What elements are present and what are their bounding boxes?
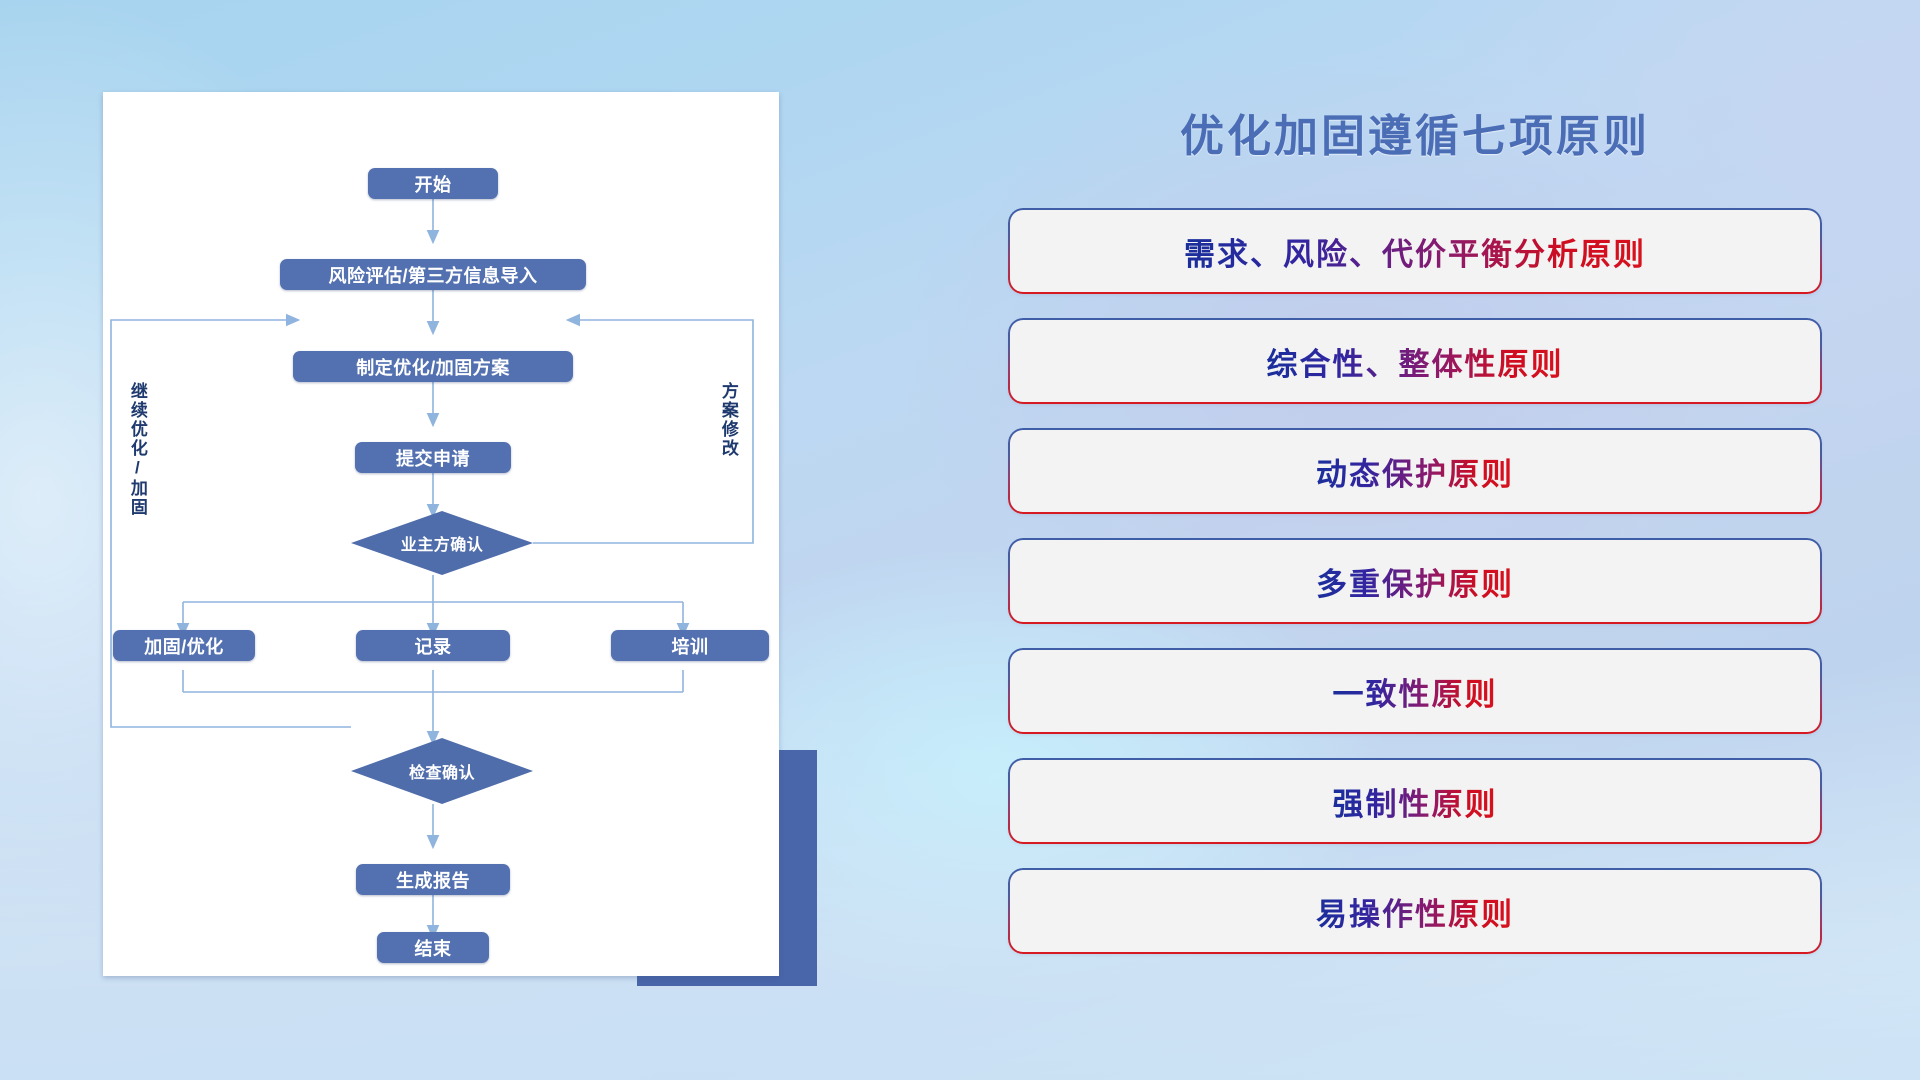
- flow-node-end[interactable]: 结束: [377, 932, 489, 963]
- flow-node-end-label: 结束: [415, 935, 452, 961]
- flow-node-report-label: 生成报告: [396, 867, 470, 893]
- flow-node-training-label: 培训: [672, 633, 709, 659]
- flow-node-risk-assessment[interactable]: 风险评估/第三方信息导入: [280, 259, 586, 290]
- flow-node-check-confirm-label: 检查确认: [409, 759, 475, 783]
- principle-card-1[interactable]: 需求、风险、代价平衡分析原则: [1010, 210, 1820, 292]
- principle-label-4: 多重保护原则: [1316, 559, 1514, 604]
- flow-node-training[interactable]: 培训: [611, 630, 769, 661]
- principles-list: 需求、风险、代价平衡分析原则 综合性、整体性原则 动态保护原则 多重保护原则 一…: [1010, 210, 1820, 952]
- flow-node-submit-label: 提交申请: [396, 445, 470, 471]
- principle-label-5: 一致性原则: [1333, 669, 1498, 714]
- principle-card-4[interactable]: 多重保护原则: [1010, 540, 1820, 622]
- principles-panel: 优化加固遵循七项原则 需求、风险、代价平衡分析原则 综合性、整体性原则 动态保护…: [1010, 96, 1820, 996]
- principle-card-7[interactable]: 易操作性原则: [1010, 870, 1820, 952]
- principle-label-2: 综合性、整体性原则: [1267, 339, 1564, 384]
- principle-label-7: 易操作性原则: [1316, 889, 1514, 934]
- flow-node-owner-confirm-label: 业主方确认: [401, 531, 484, 555]
- flow-node-start-label: 开始: [415, 171, 452, 197]
- flow-node-reinforce[interactable]: 加固/优化: [113, 630, 255, 661]
- principle-card-6[interactable]: 强制性原则: [1010, 760, 1820, 842]
- flow-node-start[interactable]: 开始: [368, 168, 498, 199]
- flow-edge-label-plan-revision: 方案修改: [719, 382, 737, 458]
- flow-node-plan[interactable]: 制定优化/加固方案: [293, 351, 573, 382]
- principle-label-1: 需求、风险、代价平衡分析原则: [1184, 229, 1646, 274]
- principle-card-5[interactable]: 一致性原则: [1010, 650, 1820, 732]
- flow-node-record[interactable]: 记录: [356, 630, 510, 661]
- flow-node-submit[interactable]: 提交申请: [355, 442, 511, 473]
- flow-edge-label-continue-optimize: 继续优化/加固: [128, 382, 146, 517]
- principle-card-3[interactable]: 动态保护原则: [1010, 430, 1820, 512]
- flow-node-owner-confirm[interactable]: 业主方确认: [351, 511, 533, 575]
- flow-node-plan-label: 制定优化/加固方案: [356, 354, 510, 380]
- flow-node-report[interactable]: 生成报告: [356, 864, 510, 895]
- principle-label-3: 动态保护原则: [1316, 449, 1514, 494]
- flow-node-reinforce-label: 加固/优化: [144, 633, 224, 659]
- principles-title: 优化加固遵循七项原则: [1010, 100, 1820, 164]
- flow-node-record-label: 记录: [415, 633, 452, 659]
- flow-node-check-confirm[interactable]: 检查确认: [351, 738, 533, 804]
- flow-node-risk-assessment-label: 风险评估/第三方信息导入: [329, 262, 538, 288]
- principle-card-2[interactable]: 综合性、整体性原则: [1010, 320, 1820, 402]
- principle-label-6: 强制性原则: [1333, 779, 1498, 824]
- flowchart-card: 开始 风险评估/第三方信息导入 制定优化/加固方案 提交申请 业主方确认 加固/…: [103, 92, 779, 976]
